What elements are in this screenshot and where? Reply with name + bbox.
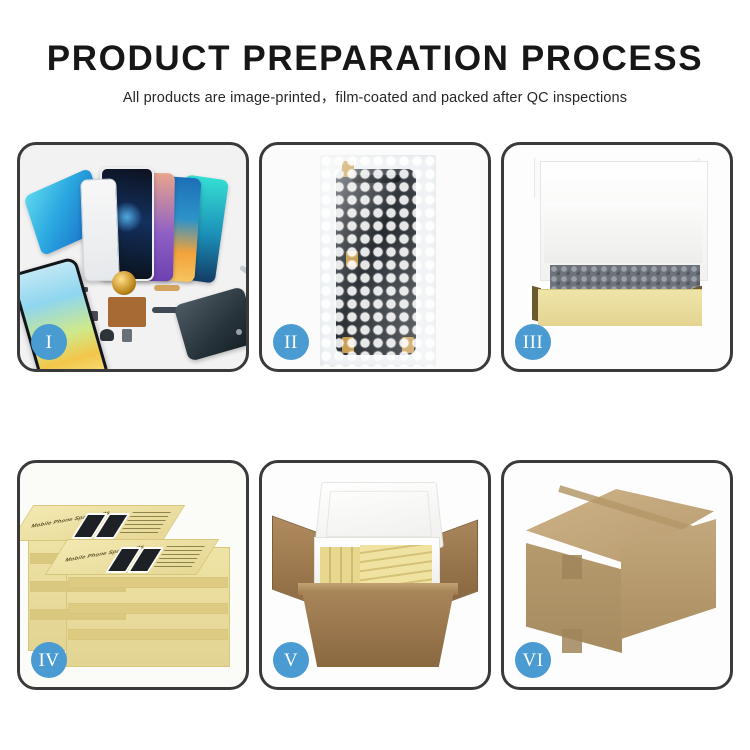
process-step-2: II [259,142,491,372]
step-badge-2: II [273,324,309,360]
page-title: PRODUCT PREPARATION PROCESS [0,0,750,76]
carton-tape-upper [562,555,582,579]
box-edge-6 [68,603,228,614]
foam-sheet-white [544,201,702,263]
tempered-glass-sheet [80,178,120,281]
part-back-housing [173,286,246,362]
carton-tape-lower [562,629,582,653]
box-front-yellow [538,289,702,326]
part-flex-cable-1 [154,285,180,291]
header: PRODUCT PREPARATION PROCESS All products… [0,0,750,106]
stacked-boxes: Mobile Phone Spare Parts Mobile Phone Sp… [28,481,238,671]
yellow-boxes-row-2 [360,545,432,585]
part-screw-1 [236,329,242,335]
product-preparation-infographic: PRODUCT PREPARATION PROCESS All products… [0,0,750,750]
bag-sheen [320,155,436,367]
box-edge-7 [68,629,228,640]
carton-body [302,591,454,667]
process-step-6: VI [501,460,733,690]
step-badge-6: VI [515,642,551,678]
box-edge-5 [68,577,228,588]
bubble-wrap-bag [320,155,436,367]
step-badge-1: I [31,324,67,360]
process-step-3: III [501,142,733,372]
process-step-5: V [259,460,491,690]
process-step-4: Mobile Phone Spare Parts Mobile Phone Sp… [17,460,249,690]
part-receiver [100,329,114,341]
part-vibration-motor [112,271,136,295]
step-badge-3: III [515,324,551,360]
part-sim-tray [122,329,132,342]
box-lid-top: Mobile Phone Spare Parts [20,505,185,541]
process-step-grid: I II [17,142,733,690]
step-badge-5: V [273,642,309,678]
part-logic-board [108,297,146,327]
step-badge-4: IV [31,642,67,678]
box-lid-second: Mobile Phone Spare Parts [45,539,219,575]
page-subtitle: All products are image-printed，film-coat… [0,76,750,106]
phone-display-fan [90,163,240,281]
anti-static-foam [550,265,700,291]
process-step-1: I [17,142,249,372]
